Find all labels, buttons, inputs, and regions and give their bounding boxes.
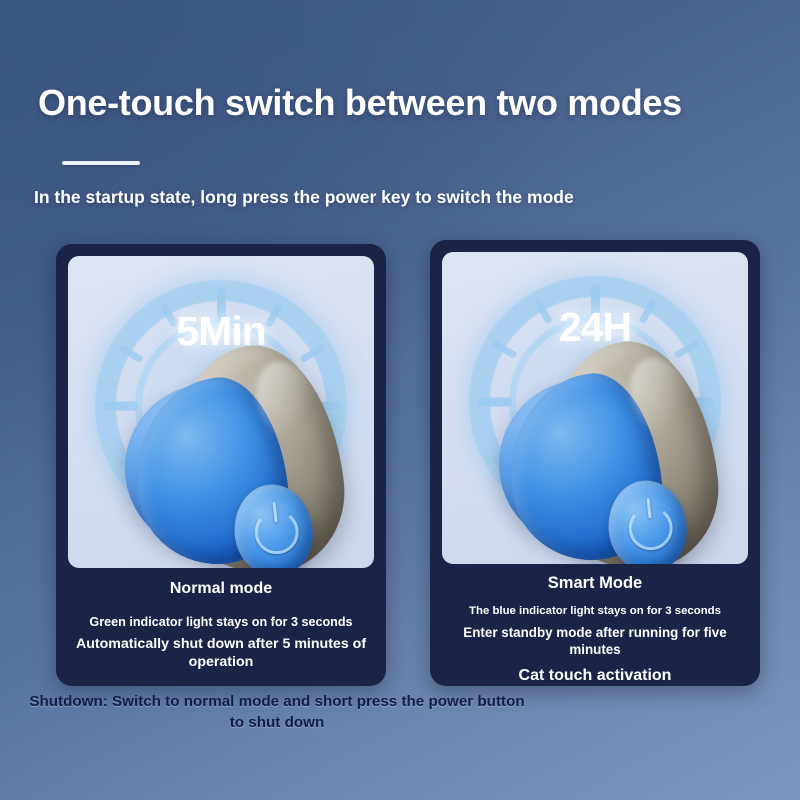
mode-title: Smart Mode	[430, 574, 760, 593]
mode-detail-line: Automatically shut down after 5 minutes …	[62, 635, 380, 672]
subtitle: In the startup state, long press the pow…	[34, 187, 764, 208]
product-image-panel-smart: 24H	[442, 252, 748, 564]
promo-banner: One-touch switch between two modes In th…	[0, 0, 800, 800]
product-illustration	[125, 346, 341, 568]
shutdown-note: Shutdown: Switch to normal mode and shor…	[24, 692, 530, 733]
mode-detail-line: The blue indicator light stays on for 3 …	[436, 604, 754, 619]
mode-detail-line: Green indicator light stays on for 3 sec…	[62, 614, 380, 631]
mode-description-smart: The blue indicator light stays on for 3 …	[436, 604, 754, 686]
outer-shell	[158, 338, 353, 568]
mode-title: Normal mode	[56, 580, 386, 598]
mode-detail-line: Cat touch activation	[436, 666, 754, 686]
power-icon	[252, 508, 300, 556]
mode-card-smart: 24H Smart Mode	[430, 240, 760, 686]
power-icon	[626, 504, 674, 552]
mode-detail-line: Enter standby mode after running for fiv…	[436, 624, 754, 659]
mode-description-normal: Green indicator light stays on for 3 sec…	[62, 614, 380, 672]
title-underline-accent	[62, 161, 140, 165]
page-title: One-touch switch between two modes	[38, 82, 758, 124]
outer-shell	[532, 334, 727, 564]
product-image-panel-normal: 5Min	[68, 256, 374, 568]
mode-card-normal: 5Min Normal mode	[56, 244, 386, 686]
product-illustration	[499, 342, 715, 564]
